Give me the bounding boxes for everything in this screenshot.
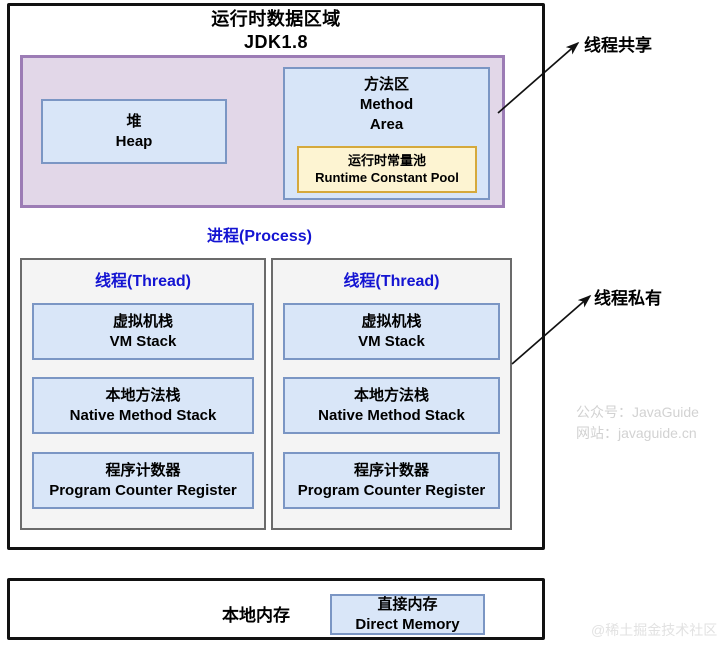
thread-2-native-method-stack-label-en: Native Method Stack — [318, 406, 465, 426]
thread-1-native-method-stack-label-cn: 本地方法栈 — [105, 386, 180, 406]
thread-2-vm-stack-label-en: VM Stack — [358, 332, 425, 352]
thread-1-pc-register-label-en: Program Counter Register — [49, 481, 237, 501]
thread-2-vm-stack: 虚拟机栈 VM Stack — [283, 303, 500, 360]
constant-pool-label-en: Runtime Constant Pool — [315, 170, 459, 187]
heap-box: 堆 Heap — [41, 99, 227, 164]
watermark-line-1: 公众号：JavaGuide — [576, 402, 699, 423]
thread-1-native-method-stack: 本地方法栈 Native Method Stack — [32, 377, 254, 434]
thread-2-vm-stack-label-cn: 虚拟机栈 — [361, 312, 421, 332]
annotation-thread-shared: 线程共享 — [584, 31, 652, 56]
thread-1-pc-register-label-cn: 程序计数器 — [105, 461, 180, 481]
watermark-javaguide: 公众号：JavaGuide 网站：javaguide.cn — [576, 402, 699, 444]
method-area-label-en-1: Method — [285, 94, 488, 114]
thread-1-native-method-stack-label-en: Native Method Stack — [70, 406, 217, 426]
native-memory-label: 本地内存 — [222, 601, 290, 626]
heap-label-en: Heap — [116, 132, 153, 152]
thread-2-title: 线程(Thread) — [273, 260, 510, 291]
thread-1-vm-stack-label-en: VM Stack — [110, 332, 177, 352]
thread-2-pc-register-label-cn: 程序计数器 — [354, 461, 429, 481]
thread-1-title: 线程(Thread) — [22, 260, 264, 291]
process-label: 进程(Process) — [7, 222, 512, 246]
constant-pool-label-cn: 运行时常量池 — [348, 153, 426, 170]
thread-1-vm-stack: 虚拟机栈 VM Stack — [32, 303, 254, 360]
runtime-constant-pool-box: 运行时常量池 Runtime Constant Pool — [297, 146, 477, 193]
thread-2-pc-register: 程序计数器 Program Counter Register — [283, 452, 500, 509]
thread-2-native-method-stack: 本地方法栈 Native Method Stack — [283, 377, 500, 434]
method-area-label-cn: 方法区 — [285, 69, 488, 94]
direct-memory-box: 直接内存 Direct Memory — [330, 594, 485, 635]
direct-memory-label-en: Direct Memory — [355, 615, 459, 635]
thread-1-vm-stack-label-cn: 虚拟机栈 — [113, 312, 173, 332]
watermark-line-2: 网站：javaguide.cn — [576, 423, 699, 444]
annotation-thread-private: 线程私有 — [594, 284, 662, 309]
thread-2-native-method-stack-label-cn: 本地方法栈 — [354, 386, 429, 406]
watermark-juejin: @稀土掘金技术社区 — [591, 620, 717, 640]
thread-1-pc-register: 程序计数器 Program Counter Register — [32, 452, 254, 509]
method-area-label-en-2: Area — [285, 114, 488, 134]
title-version: JDK1.8 — [7, 31, 545, 54]
heap-label-cn: 堆 — [126, 112, 141, 132]
title-chinese: 运行时数据区域 — [7, 8, 545, 31]
direct-memory-label-cn: 直接内存 — [377, 595, 437, 615]
page-title: 运行时数据区域 JDK1.8 — [7, 8, 545, 53]
diagram-canvas: 运行时数据区域 JDK1.8 堆 Heap 方法区 Method Area 运行… — [0, 0, 727, 648]
thread-2-pc-register-label-en: Program Counter Register — [298, 481, 486, 501]
